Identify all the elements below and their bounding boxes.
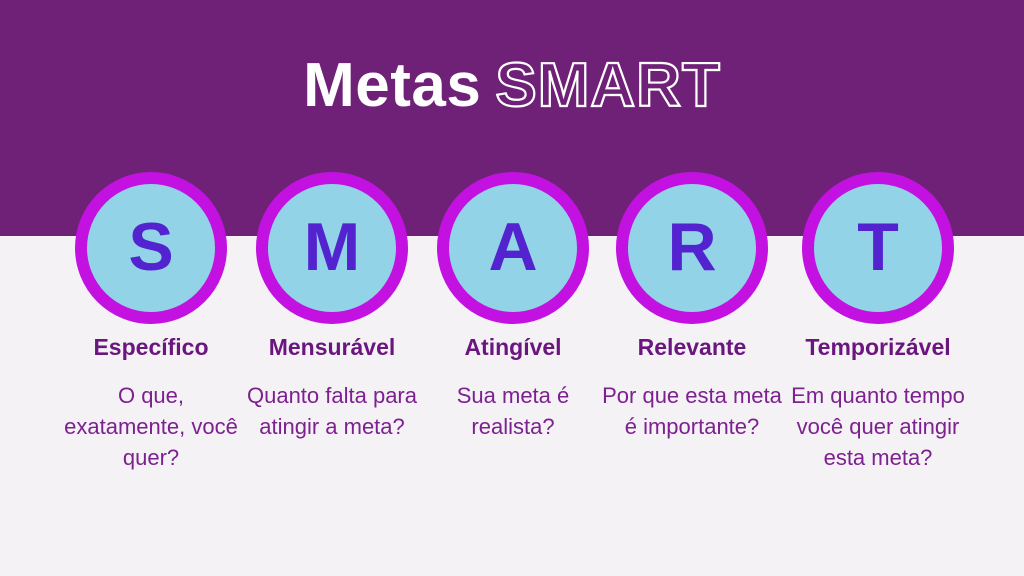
circle-letter-text: T — [857, 213, 899, 281]
column-body-relevante: Por que esta meta é importante? — [597, 380, 787, 442]
circle-letter-text: S — [128, 213, 173, 281]
column-body-mensuravel: Quanto falta para atingir a meta? — [237, 380, 427, 442]
column-heading-relevante: Relevante — [594, 334, 790, 360]
column-body-atingivel: Sua meta é realista? — [418, 380, 608, 442]
circle-letter-text: R — [667, 213, 716, 281]
circle-letter-text: M — [304, 213, 361, 281]
letter-circle-m: M — [256, 172, 408, 324]
letter-circle-t: T — [802, 172, 954, 324]
column-body-temporizavel: Em quanto tempo você quer atingir esta m… — [780, 380, 976, 474]
column-heading-atingivel: Atingível — [415, 334, 611, 360]
circle-letter-text: A — [488, 213, 537, 281]
column-heading-mensuravel: Mensurável — [234, 334, 430, 360]
column-body-specifico: O que, exatamente, você quer? — [56, 380, 246, 474]
column-heading-specifico: Específico — [53, 334, 249, 360]
letter-circle-a: A — [437, 172, 589, 324]
smart-columns: S Específico O que, exatamente, você que… — [0, 0, 1024, 576]
letter-circle-r: R — [616, 172, 768, 324]
letter-circle-s: S — [75, 172, 227, 324]
column-heading-temporizavel: Temporizável — [780, 334, 976, 360]
